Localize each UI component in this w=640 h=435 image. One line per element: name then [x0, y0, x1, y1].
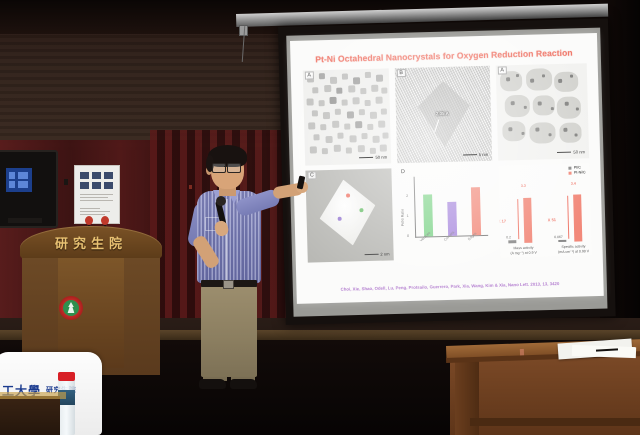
scale-bar-b: 5 nm	[463, 152, 488, 158]
monitor-screen	[6, 168, 32, 192]
nanoparticle-field	[303, 68, 391, 165]
shirt-placket	[225, 199, 228, 281]
mass-gain-arrow	[517, 199, 519, 239]
mass-multiplier: X 17	[498, 218, 506, 223]
panel-label-a2: A	[498, 66, 507, 74]
shoe-right	[230, 379, 257, 389]
figure-panel-activity: Pt/C Pt-Ni/C 3.3 0.2 X	[498, 163, 591, 257]
chart-d-ylabel: Pt/Ni Ratio	[400, 209, 404, 226]
scale-bar-c: 2 nm	[364, 251, 389, 257]
left-table	[0, 396, 60, 435]
chart-d-ytick-1: 1	[407, 214, 409, 218]
specific-multiplier: X 51	[548, 217, 556, 222]
projected-slide: Pt-Ni Octahedral Nanocrystals for Oxygen…	[290, 33, 604, 304]
stem-octahedron	[319, 179, 377, 246]
chart-d-ytick-2: 2	[406, 194, 408, 198]
activity-xlabel-mass: Mass activity (A mg⁻¹) at 0.9 V	[500, 245, 546, 256]
speaker	[175, 143, 305, 393]
podium-sign-text: 研究生院	[20, 233, 162, 252]
microphone-head	[216, 196, 226, 206]
light-switch[interactable]	[64, 179, 68, 185]
podium-mic-left	[85, 216, 93, 225]
activity-legend: Pt/C Pt-Ni/C	[568, 165, 585, 175]
figure-panel-c: C 2 nm	[305, 168, 393, 262]
lecture-hall-photo: Pt-Ni Octahedral Nanocrystals for Oxygen…	[0, 0, 640, 435]
figure-panel-b: B 2.05 A 5 nm	[395, 66, 492, 163]
eyeglasses	[212, 163, 241, 171]
bottle-cap	[58, 372, 75, 381]
podium-mic-right	[101, 216, 109, 225]
slide-title: Pt-Ni Octahedral Nanocrystals for Oxygen…	[290, 47, 597, 65]
eds-point-edge	[359, 208, 363, 212]
scale-bar-a1: 50 nm	[359, 154, 387, 160]
activity-group-specific: 3.4 0.067 X 51	[555, 189, 592, 242]
water-bottle	[58, 378, 75, 435]
scale-bar-a2: 50 nm	[557, 149, 585, 155]
d-spacing-label: 2.05 A	[436, 111, 449, 116]
bar-ptnic-specific	[573, 194, 582, 241]
carbon-support	[496, 63, 587, 65]
monitor-stand	[8, 218, 42, 223]
panel-label-d: D	[399, 169, 406, 175]
value-label-specific: 3.4	[571, 182, 576, 186]
activity-xlabel-specific: Specific activity (mA cm⁻²) at 0.90 V	[550, 244, 591, 255]
chart-d-bar-2	[470, 187, 480, 235]
baseline-label-specific: 0.067	[554, 235, 563, 239]
panel-label-c: C	[307, 171, 316, 179]
trousers	[201, 285, 257, 377]
shoe-left	[199, 379, 226, 389]
bar-ptnic-mass	[523, 198, 532, 243]
panel-label-a1: A	[305, 71, 314, 79]
chart-d-plot	[414, 175, 489, 238]
wall-notice-poster	[74, 165, 120, 224]
bar-ptc-mass	[508, 240, 516, 243]
slide-figure-grid: A	[303, 63, 592, 266]
bar-ptc-specific	[558, 240, 566, 242]
figure-panel-a2: A 50 nm	[496, 63, 589, 160]
activity-group-mass: 3.3 0.2 X 17	[505, 190, 544, 243]
belt-buckle	[223, 280, 234, 289]
chart-d-bars	[415, 175, 489, 237]
front-table-shelf	[470, 418, 640, 426]
figure-panel-a1: A	[303, 68, 391, 165]
legend-item-ptnic: Pt-Ni/C	[568, 170, 585, 175]
figure-panel-d: D Pt/Ni Ratio 0 1 2 Vertices Corners	[397, 166, 494, 260]
left-table-top	[0, 392, 66, 399]
baseline-label-mass: 0.2	[506, 235, 511, 239]
chart-d-ytick-0: 0	[407, 234, 409, 238]
slide-citation: Choi, Xie, Shao, Odell, Lu, Peng, Protsa…	[296, 280, 603, 293]
specific-gain-arrow	[567, 196, 569, 239]
panel-label-b: B	[397, 69, 406, 77]
value-label-mass: 3.3	[521, 184, 526, 188]
eds-point-face	[338, 217, 342, 221]
